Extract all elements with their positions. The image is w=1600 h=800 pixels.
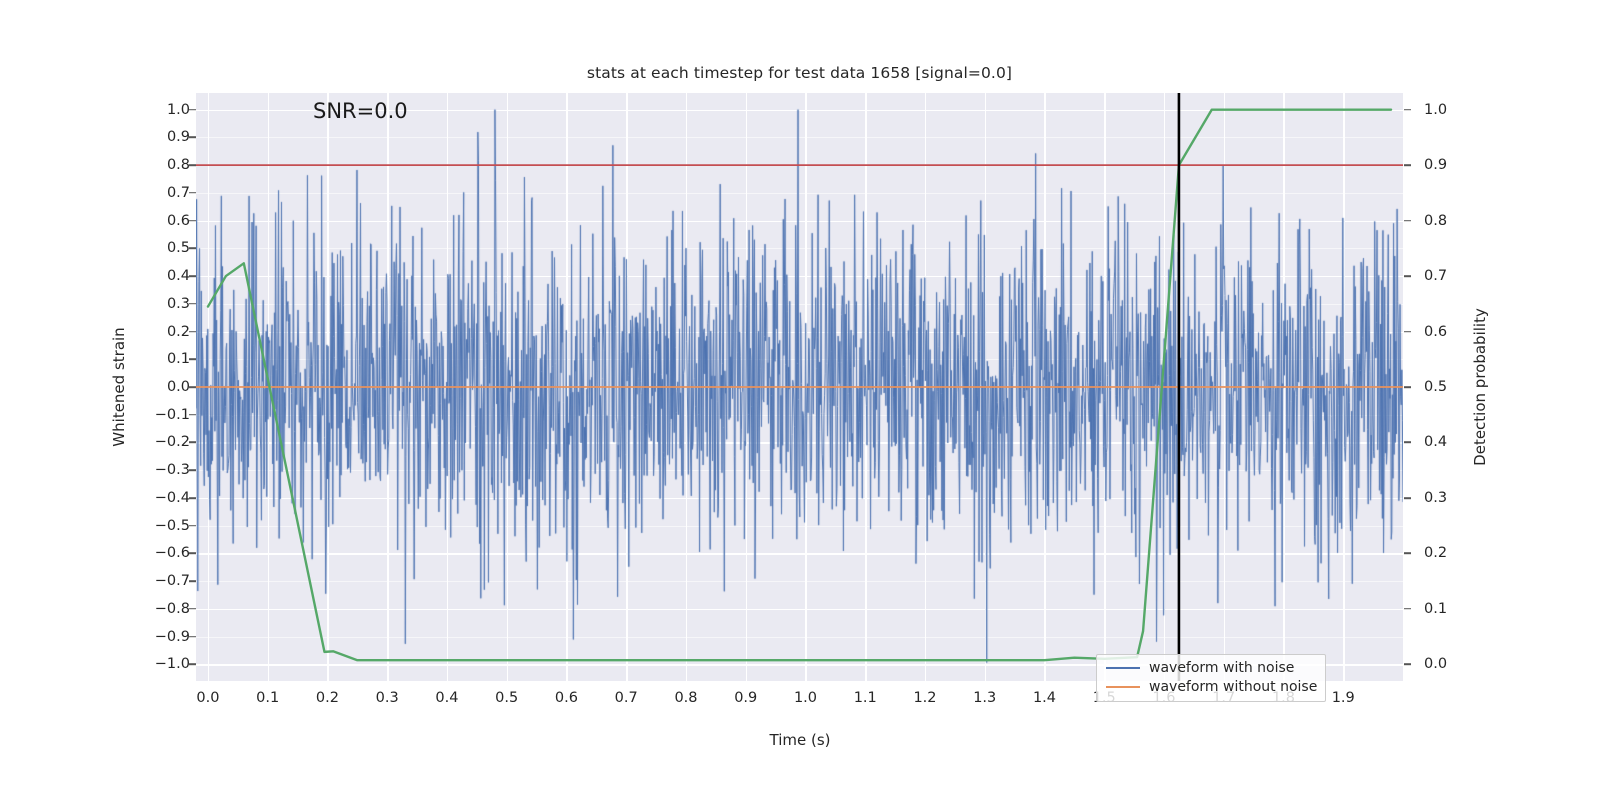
snr-annotation: SNR=0.0 bbox=[313, 99, 408, 123]
detection-probability-line bbox=[208, 110, 1391, 661]
y-tick-mark-left bbox=[189, 414, 196, 416]
y-tick-label-left: 1.0 bbox=[167, 102, 190, 118]
y-tick-mark-right bbox=[1404, 275, 1411, 277]
x-tick-label: 0.0 bbox=[196, 690, 219, 706]
y-tick-label-left: −0.1 bbox=[155, 407, 190, 423]
y-tick-mark-left bbox=[189, 580, 196, 582]
y-tick-mark-left bbox=[189, 608, 196, 610]
y-tick-label-left: 0.8 bbox=[167, 157, 190, 173]
y-axis-label-left: Whitened strain bbox=[110, 327, 128, 446]
y-tick-label-right: 0.0 bbox=[1424, 656, 1447, 672]
y-tick-mark-left bbox=[189, 192, 196, 194]
y-tick-label-right: 0.1 bbox=[1424, 601, 1447, 617]
x-tick-label: 1.0 bbox=[794, 690, 817, 706]
x-tick-label: 1.9 bbox=[1332, 690, 1355, 706]
y-tick-label-left: −1.0 bbox=[155, 656, 190, 672]
y-tick-label-left: −0.3 bbox=[155, 462, 190, 478]
x-tick-label: 0.9 bbox=[734, 690, 757, 706]
y-tick-mark-right bbox=[1404, 164, 1411, 166]
y-tick-label-right: 1.0 bbox=[1424, 102, 1447, 118]
y-tick-mark-left bbox=[189, 275, 196, 277]
x-tick-label: 1.1 bbox=[854, 690, 877, 706]
chart-legend[interactable]: waveform with noise waveform without noi… bbox=[1096, 654, 1326, 702]
y-tick-label-right: 0.2 bbox=[1424, 545, 1447, 561]
y-tick-label-left: 0.3 bbox=[167, 296, 190, 312]
y-tick-label-left: 0.5 bbox=[167, 240, 190, 256]
x-tick-label: 0.3 bbox=[376, 690, 399, 706]
y-tick-mark-right bbox=[1404, 553, 1411, 555]
y-tick-mark-right bbox=[1404, 442, 1411, 444]
x-tick-label: 0.7 bbox=[615, 690, 638, 706]
legend-swatch-orange bbox=[1106, 686, 1140, 688]
legend-label: waveform without noise bbox=[1149, 679, 1317, 695]
y-tick-mark-left bbox=[189, 497, 196, 499]
y-tick-mark-left bbox=[189, 164, 196, 166]
y-tick-mark-right bbox=[1404, 386, 1411, 388]
y-tick-label-left: 0.4 bbox=[167, 268, 190, 284]
y-tick-label-left: 0.6 bbox=[167, 213, 190, 229]
x-tick-label: 0.5 bbox=[495, 690, 518, 706]
y-tick-label-left: −0.9 bbox=[155, 629, 190, 645]
x-tick-label: 1.4 bbox=[1033, 690, 1056, 706]
y-tick-mark-right bbox=[1404, 331, 1411, 333]
x-axis-label: Time (s) bbox=[770, 731, 831, 749]
y-tick-mark-right bbox=[1404, 497, 1411, 499]
y-tick-mark-left bbox=[189, 220, 196, 222]
y-tick-mark-left bbox=[189, 553, 196, 555]
y-tick-label-left: 0.1 bbox=[167, 351, 190, 367]
y-tick-label-left: −0.7 bbox=[155, 573, 190, 589]
figure-canvas: stats at each timestep for test data 165… bbox=[0, 0, 1600, 800]
y-tick-label-left: −0.4 bbox=[155, 490, 190, 506]
y-axis-label-right: Detection probability bbox=[1471, 308, 1489, 466]
legend-swatch-blue bbox=[1106, 667, 1140, 669]
legend-item-waveform-without-noise[interactable]: waveform without noise bbox=[1106, 679, 1316, 695]
y-tick-mark-left bbox=[189, 137, 196, 139]
y-tick-label-right: 0.9 bbox=[1424, 157, 1447, 173]
y-tick-mark-right bbox=[1404, 220, 1411, 222]
x-tick-label: 0.4 bbox=[435, 690, 458, 706]
y-tick-label-right: 0.7 bbox=[1424, 268, 1447, 284]
y-tick-label-right: 0.8 bbox=[1424, 213, 1447, 229]
y-tick-label-left: 0.0 bbox=[167, 379, 190, 395]
y-tick-mark-left bbox=[189, 303, 196, 305]
y-tick-label-left: −0.8 bbox=[155, 601, 190, 617]
y-tick-mark-right bbox=[1404, 608, 1411, 610]
y-tick-mark-right bbox=[1404, 664, 1411, 666]
y-tick-mark-left bbox=[189, 442, 196, 444]
overlay-series-layer bbox=[196, 93, 1403, 681]
y-tick-mark-left bbox=[189, 109, 196, 111]
y-tick-mark-left bbox=[189, 386, 196, 388]
y-tick-label-left: −0.2 bbox=[155, 434, 190, 450]
y-tick-label-left: −0.6 bbox=[155, 545, 190, 561]
page-title: stats at each timestep for test data 165… bbox=[196, 64, 1403, 82]
x-tick-label: 1.3 bbox=[973, 690, 996, 706]
x-tick-label: 0.6 bbox=[555, 690, 578, 706]
x-tick-label: 0.2 bbox=[316, 690, 339, 706]
x-tick-label: 0.1 bbox=[256, 690, 279, 706]
y-tick-label-right: 0.3 bbox=[1424, 490, 1447, 506]
legend-item-waveform-with-noise[interactable]: waveform with noise bbox=[1106, 660, 1316, 676]
y-tick-label-left: 0.7 bbox=[167, 185, 190, 201]
y-tick-label-right: 0.6 bbox=[1424, 324, 1447, 340]
legend-label: waveform with noise bbox=[1149, 660, 1294, 676]
y-tick-mark-right bbox=[1404, 109, 1411, 111]
x-tick-label: 0.8 bbox=[674, 690, 697, 706]
y-tick-mark-left bbox=[189, 469, 196, 471]
x-tick-label: 1.2 bbox=[913, 690, 936, 706]
y-tick-mark-left bbox=[189, 636, 196, 638]
y-tick-mark-left bbox=[189, 664, 196, 666]
y-tick-label-right: 0.4 bbox=[1424, 434, 1447, 450]
y-tick-label-left: 0.9 bbox=[167, 129, 190, 145]
y-tick-mark-left bbox=[189, 331, 196, 333]
y-tick-mark-left bbox=[189, 525, 196, 527]
y-tick-mark-left bbox=[189, 248, 196, 250]
y-tick-label-left: −0.5 bbox=[155, 518, 190, 534]
y-tick-label-left: 0.2 bbox=[167, 324, 190, 340]
y-tick-mark-left bbox=[189, 358, 196, 360]
y-tick-label-right: 0.5 bbox=[1424, 379, 1447, 395]
plot-area bbox=[196, 93, 1403, 681]
